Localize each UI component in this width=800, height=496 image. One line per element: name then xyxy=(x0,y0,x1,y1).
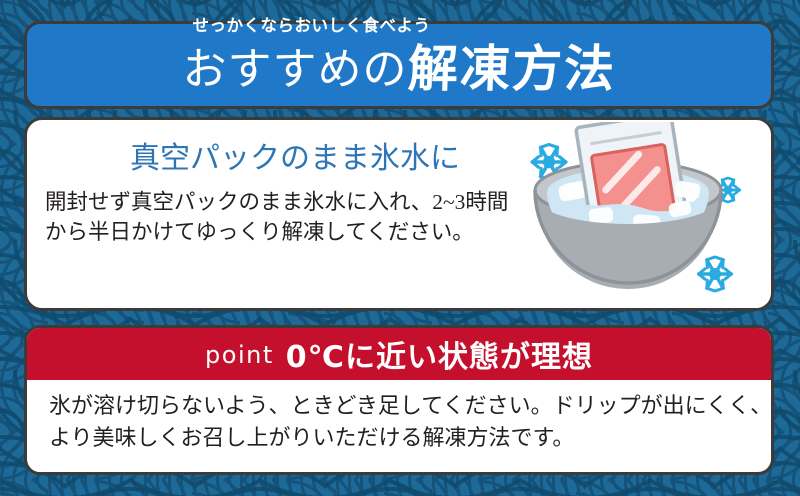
point-body-block: 氷が溶け切らないよう、ときどき足してください。ドリップが出にくく、 より美味しく… xyxy=(49,390,755,454)
point-card: point 0℃に近い状態が理想 氷が溶け切らないよう、ときどき足してください。… xyxy=(24,325,774,475)
snowflake-icon xyxy=(699,257,732,291)
main-body-line-1: 開封せず真空パックのまま氷水に入れ、2~3時間 xyxy=(45,187,545,218)
main-subtitle: 真空パックのまま氷水に xyxy=(45,142,545,177)
main-content-panel: 真空パックのまま氷水に 開封せず真空パックのまま氷水に入れ、2~3時間 から半日… xyxy=(24,117,774,311)
point-label: point xyxy=(205,341,274,369)
point-body-line-2: より美味しくお召し上がりいただける解凍方法です。 xyxy=(49,422,755,454)
main-text-block: 真空パックのまま氷水に 開封せず真空パックのまま氷水に入れ、2~3時間 から半日… xyxy=(45,142,545,248)
header-title-kana: おすすめの xyxy=(183,48,408,92)
header-text-group: せっかくならおいしく食べよう おすすめの 解凍方法 xyxy=(183,42,616,92)
bowl-of-ice-water-illustration xyxy=(493,122,763,312)
header-kicker-text: せっかくならおいしく食べよう xyxy=(193,12,431,36)
point-banner: point 0℃に近い状態が理想 xyxy=(27,328,771,380)
poster-canvas: せっかくならおいしく食べよう おすすめの 解凍方法 真空パックのまま氷水に 開封… xyxy=(0,0,800,496)
header-title-kanji: 解凍方法 xyxy=(407,44,617,94)
header-banner: せっかくならおいしく食べよう おすすめの 解凍方法 xyxy=(24,21,774,109)
point-headline: 0℃に近い状態が理想 xyxy=(286,332,593,376)
point-body-line-1: 氷が溶け切らないよう、ときどき足してください。ドリップが出にくく、 xyxy=(49,390,755,422)
main-body-line-2: から半日かけてゆっくり解凍してください。 xyxy=(45,217,545,248)
